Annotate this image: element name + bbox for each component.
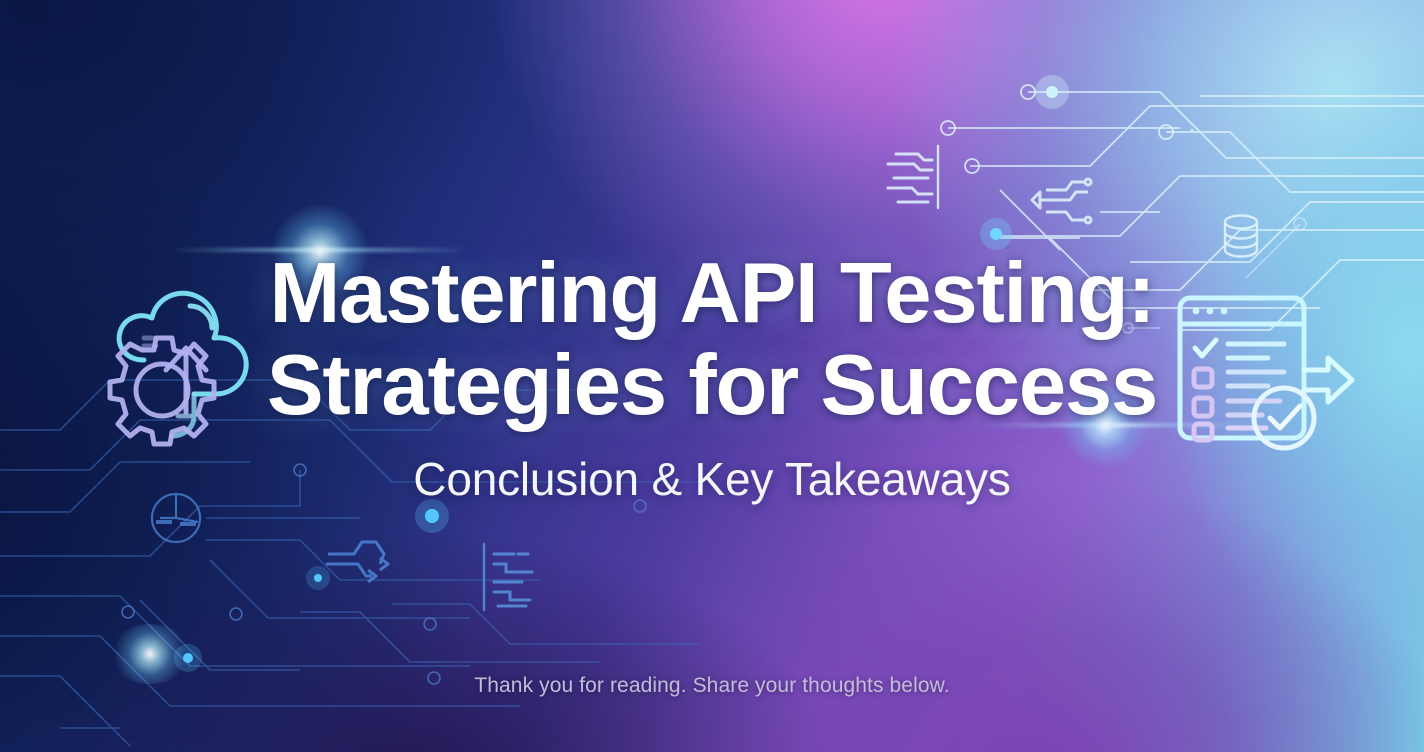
- title-line-2: Strategies for Success: [0, 340, 1424, 432]
- presentation-slide: Mastering API Testing: Strategies for Su…: [0, 0, 1424, 752]
- slide-subtitle: Conclusion & Key Takeaways: [0, 452, 1424, 506]
- code-lines-icon: [476, 540, 544, 614]
- data-flow-arrow-icon: [324, 534, 400, 596]
- merge-arrow-icon: [1026, 174, 1098, 228]
- slide-footnote: Thank you for reading. Share your though…: [0, 674, 1424, 698]
- title-line-1: Mastering API Testing:: [0, 248, 1424, 340]
- slide-title: Mastering API Testing: Strategies for Su…: [0, 248, 1424, 432]
- code-lines-icon-top: [884, 144, 946, 210]
